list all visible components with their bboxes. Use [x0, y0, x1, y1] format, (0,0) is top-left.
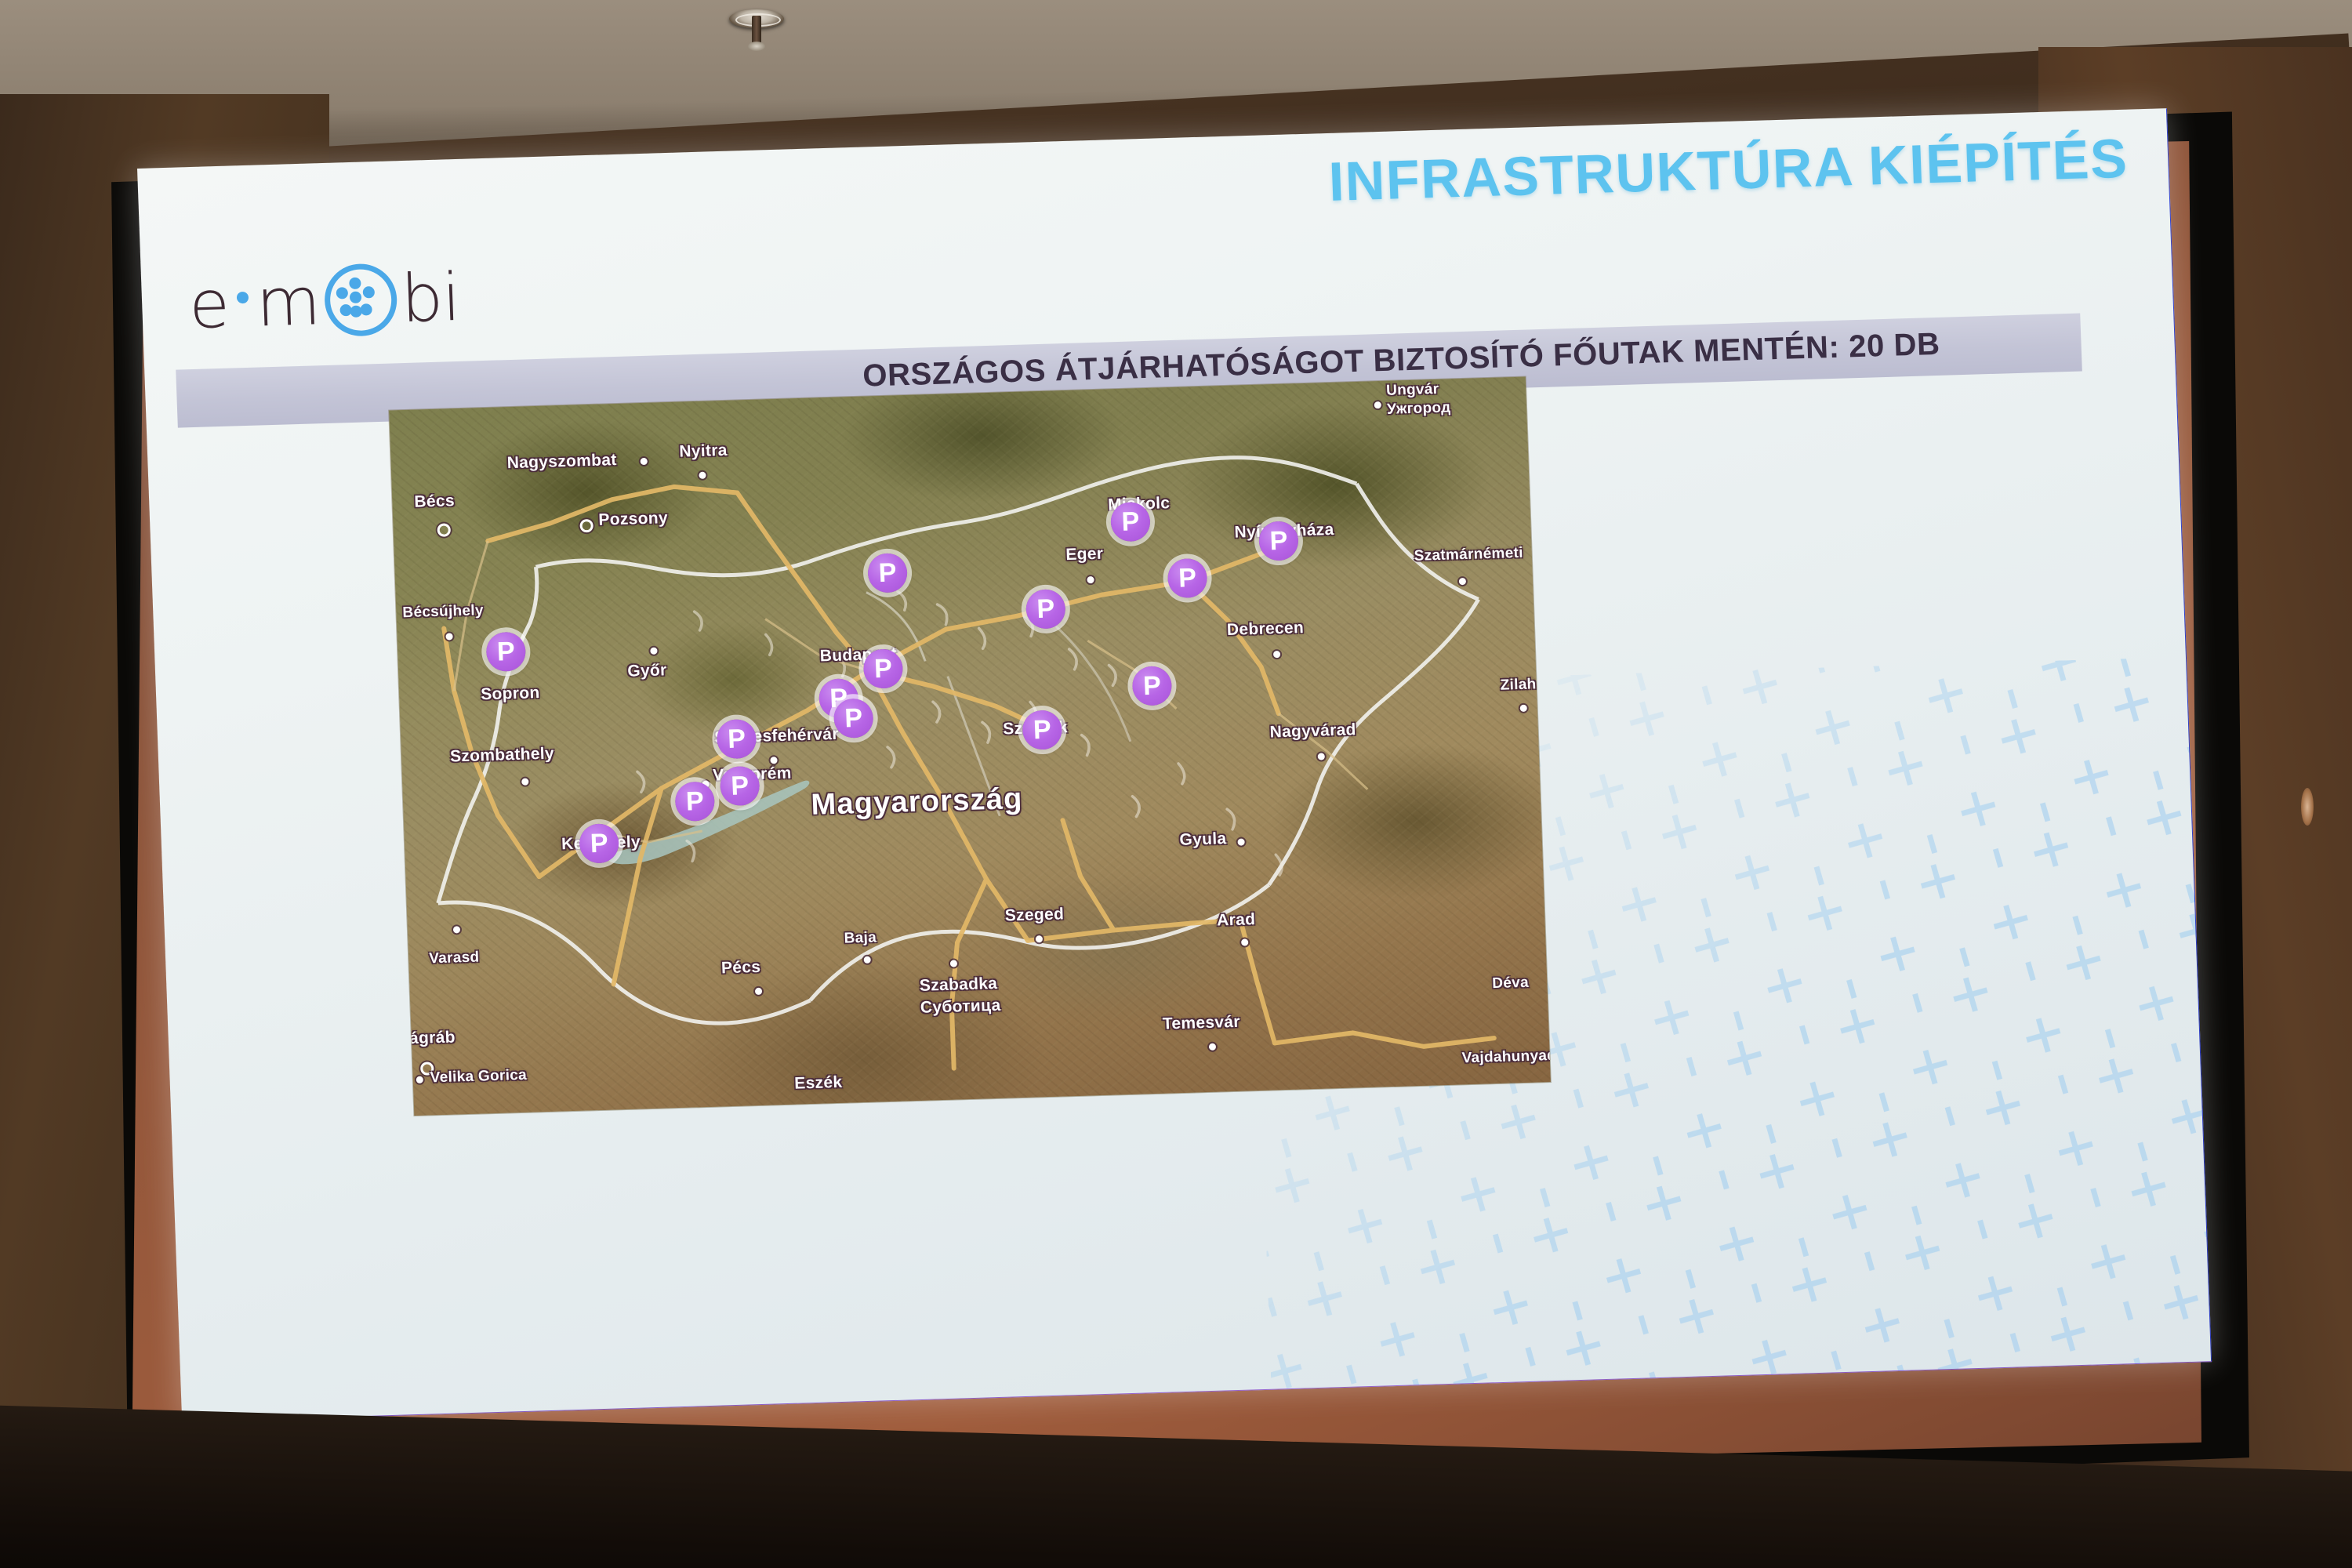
photo-scene: INFRASTRUKTÚRA KIÉPÍTÉS e m bi ORSZÁGOS …	[0, 0, 2352, 1568]
map-city-label: Szeged	[1004, 905, 1064, 925]
map-city-label: Ungvár	[1386, 381, 1439, 400]
map-city-label: Varasd	[429, 949, 480, 967]
presentation-slide: INFRASTRUKTÚRA KIÉPÍTÉS e m bi ORSZÁGOS …	[137, 108, 2212, 1422]
logo-text-bi: bi	[400, 264, 461, 332]
map-city-label: Baja	[844, 929, 877, 947]
map-city-label: Szatmárnémeti	[1414, 545, 1523, 565]
logo-text-e: e	[188, 271, 230, 338]
map-city-label: Arad	[1217, 910, 1256, 930]
wall-highlight	[2301, 788, 2314, 826]
map-city-label: Zágráb	[399, 1028, 456, 1048]
logo-text-m: m	[255, 268, 321, 336]
hungary-charging-map[interactable]: Bécs Nagyszombat Nyitra Pozsony Bécsújhe…	[389, 377, 1551, 1116]
map-city-label: Gyula	[1179, 829, 1227, 850]
map-city-label: Velika Gorica	[430, 1067, 527, 1087]
fire-sprinkler-icon	[729, 5, 784, 53]
map-city-label: Győr	[627, 661, 667, 681]
map-city-label: Szabadka	[920, 975, 998, 996]
map-city-label: Nagyvárad	[1269, 720, 1356, 742]
map-city-label: Szombathely	[450, 745, 555, 767]
map-city-label: Vajdahunyad	[1461, 1047, 1551, 1068]
logo-separator-dot	[236, 291, 249, 303]
map-city-label: Ужгород	[1387, 399, 1451, 418]
ev-connector-icon	[323, 263, 397, 337]
page-title: INFRASTRUKTÚRA KIÉPÍTÉS	[1327, 127, 2129, 213]
map-city-label: Zilah	[1500, 676, 1537, 694]
map-city-label: Déva	[1492, 975, 1529, 993]
emobi-logo: e m bi	[188, 261, 461, 341]
map-city-label: Bécsújhely	[402, 602, 484, 622]
map-city-label: Nagyszombat	[506, 451, 617, 473]
map-city-label: Bécs	[414, 492, 455, 512]
map-city-label: Суботица	[920, 996, 1001, 1018]
map-city-label: Sopron	[481, 684, 540, 704]
map-city-label: Nyitra	[679, 441, 728, 462]
map-city-label: Temesvár	[1162, 1013, 1240, 1034]
map-city-label: Eger	[1065, 545, 1104, 564]
map-country-label: Magyarország	[811, 782, 1023, 822]
map-city-label: Eszék	[794, 1073, 843, 1094]
map-city-label: Pozsony	[598, 509, 668, 530]
map-city-label: Pécs	[721, 958, 761, 978]
map-city-label: Debrecen	[1227, 619, 1305, 640]
